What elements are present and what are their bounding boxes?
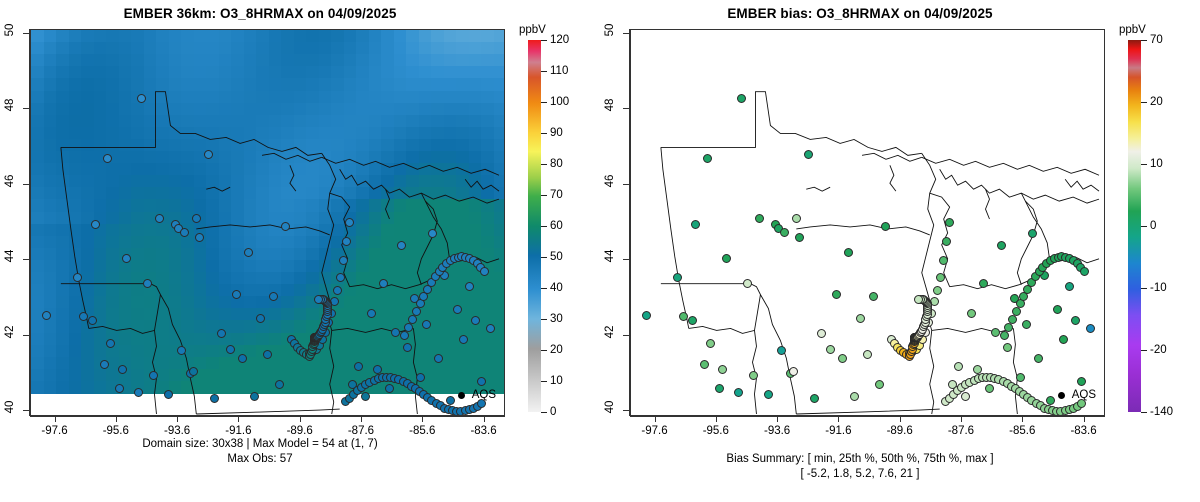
observation-point[interactable] — [471, 316, 480, 325]
y-tick-label: 46 — [4, 171, 16, 191]
observation-point[interactable] — [73, 273, 82, 282]
observation-point[interactable] — [465, 282, 474, 291]
left-footer-line2: Max Obs: 57 — [0, 452, 520, 467]
colorbar-tick-label: 20 — [550, 344, 563, 356]
colorbar-tick — [1141, 102, 1147, 103]
observation-point[interactable] — [339, 256, 348, 265]
observation-point[interactable] — [149, 371, 158, 380]
bias-point[interactable] — [826, 345, 835, 354]
colorbar-tick — [541, 226, 547, 227]
observation-point[interactable] — [269, 292, 278, 301]
colorbar-tick-label: 10 — [550, 375, 563, 387]
y-tick-label: 50 — [604, 20, 616, 40]
observation-point[interactable] — [189, 367, 198, 376]
y-tick — [23, 33, 29, 34]
colorbar-tick-label: 70 — [550, 189, 563, 201]
bias-point[interactable] — [914, 295, 923, 304]
observation-point[interactable] — [453, 305, 462, 314]
bias-point[interactable] — [942, 237, 951, 246]
colorbar-tick — [541, 133, 547, 134]
left-x-axis — [30, 416, 505, 417]
colorbar-tick-label: 0 — [1150, 220, 1156, 232]
bias-point[interactable] — [1077, 377, 1086, 386]
bias-point[interactable] — [936, 273, 945, 282]
observation-point[interactable] — [79, 312, 88, 321]
observation-point[interactable] — [244, 248, 253, 257]
colorbar-tick — [1141, 40, 1147, 41]
colorbar-tick-label: 40 — [550, 282, 563, 294]
observation-point[interactable] — [91, 220, 100, 229]
colorbar-tick-label: 10 — [1150, 158, 1163, 170]
x-tick-label: -91.6 — [225, 425, 251, 437]
colorbar-tick-label: 80 — [550, 158, 563, 170]
bias-point[interactable] — [961, 392, 970, 401]
observation-point[interactable] — [232, 290, 241, 299]
y-tick-label: 40 — [4, 397, 16, 417]
x-tick — [238, 416, 239, 422]
y-tick — [23, 335, 29, 336]
observation-point[interactable] — [333, 286, 342, 295]
right-colorbar-unit: ppbV — [1119, 24, 1146, 36]
bias-point[interactable] — [817, 329, 826, 338]
bias-point[interactable] — [734, 388, 743, 397]
bias-point[interactable] — [1003, 343, 1012, 352]
bias-point[interactable] — [1080, 267, 1089, 276]
bias-point[interactable] — [764, 390, 773, 399]
colorbar-tick — [1141, 164, 1147, 165]
observation-point[interactable] — [281, 222, 290, 231]
observation-point[interactable] — [412, 307, 421, 316]
bias-point[interactable] — [700, 360, 709, 369]
observation-point[interactable] — [434, 354, 443, 363]
bias-point[interactable] — [715, 384, 724, 393]
x-tick — [177, 416, 178, 422]
figure-root: EMBER 36km: O3_8HRMAX on 04/09/2025 — [0, 0, 1200, 502]
bias-point[interactable] — [691, 220, 700, 229]
y-tick — [623, 184, 629, 185]
observation-points-model[interactable] — [31, 30, 504, 415]
bias-point[interactable] — [967, 309, 976, 318]
aqs-legend-label: AQS — [1072, 389, 1096, 401]
x-tick — [655, 416, 656, 422]
x-tick-label: -93.6 — [164, 425, 190, 437]
x-tick-label: -89.6 — [287, 425, 313, 437]
aqs-legend-dot-icon — [1058, 392, 1065, 399]
colorbar-tick-label: -140 — [1150, 406, 1173, 418]
bias-point[interactable] — [755, 214, 764, 223]
x-tick — [777, 416, 778, 422]
x-tick-label: -87.6 — [948, 425, 974, 437]
bias-point[interactable] — [856, 314, 865, 323]
bias-point[interactable] — [985, 384, 994, 393]
colorbar-tick — [541, 350, 547, 351]
colorbar-tick — [541, 195, 547, 196]
observation-point[interactable] — [404, 323, 413, 332]
bias-point[interactable] — [933, 286, 942, 295]
observation-point[interactable] — [477, 377, 486, 386]
observation-point[interactable] — [115, 384, 124, 393]
y-tick — [23, 108, 29, 109]
colorbar-tick-label: 0 — [550, 406, 556, 418]
observation-point[interactable] — [238, 354, 247, 363]
observation-point[interactable] — [385, 384, 394, 393]
x-tick-label: -95.6 — [103, 425, 129, 437]
x-tick — [116, 416, 117, 422]
observation-point[interactable] — [428, 229, 437, 238]
x-tick — [55, 416, 56, 422]
y-tick-label: 48 — [4, 95, 16, 115]
x-tick — [1084, 416, 1085, 422]
right-y-axis — [629, 29, 630, 416]
colorbar-tick — [541, 319, 547, 320]
colorbar-tick — [541, 164, 547, 165]
colorbar-tick-label: -10 — [1150, 282, 1167, 294]
observation-point[interactable] — [88, 316, 97, 325]
bias-point[interactable] — [749, 371, 758, 380]
colorbar-tick — [541, 412, 547, 413]
colorbar-tick-label: 90 — [550, 127, 563, 139]
observation-point[interactable] — [100, 360, 109, 369]
left-colorbar-unit: ppbV — [519, 24, 546, 36]
bias-point[interactable] — [777, 346, 786, 355]
x-tick — [422, 416, 423, 422]
bias-point[interactable] — [1012, 307, 1021, 316]
observation-point[interactable] — [367, 309, 376, 318]
bias-point[interactable] — [850, 392, 859, 401]
colorbar-tick — [541, 257, 547, 258]
observation-point[interactable] — [204, 150, 213, 159]
observation-point[interactable] — [397, 241, 406, 250]
bias-point[interactable] — [1071, 316, 1080, 325]
left-map-plot[interactable]: AQS — [30, 29, 505, 416]
observation-point[interactable] — [314, 295, 323, 304]
bias-point[interactable] — [1022, 320, 1031, 329]
right-panel: EMBER bias: O3_8HRMAX on 04/09/2025 — [600, 0, 1200, 502]
bias-point[interactable] — [795, 233, 804, 242]
y-tick — [623, 410, 629, 411]
observation-point[interactable] — [446, 396, 455, 405]
colorbar-tick — [541, 40, 547, 41]
x-tick — [300, 416, 301, 422]
colorbar-tick — [541, 288, 547, 289]
bias-point[interactable] — [832, 290, 841, 299]
observation-point[interactable] — [342, 237, 351, 246]
left-footer-line1: Domain size: 30x38 | Max Model = 54 at (… — [0, 437, 520, 452]
colorbar-tick — [1141, 412, 1147, 413]
y-tick-label: 44 — [4, 246, 16, 266]
y-tick — [23, 410, 29, 411]
x-tick-label: -85.6 — [1009, 425, 1035, 437]
colorbar-tick — [541, 381, 547, 382]
colorbar-tick — [541, 71, 547, 72]
x-tick — [716, 416, 717, 422]
x-tick-label: -87.6 — [348, 425, 374, 437]
observation-point[interactable] — [408, 315, 417, 324]
observation-point[interactable] — [263, 350, 272, 359]
bias-point[interactable] — [1008, 315, 1017, 324]
colorbar-tick-label: 50 — [550, 251, 563, 263]
observation-point[interactable] — [336, 273, 345, 282]
colorbar-tick-label: 30 — [550, 313, 563, 325]
colorbar-tick-label: 120 — [550, 34, 569, 46]
observation-point[interactable] — [354, 362, 363, 371]
aqs-legend-dot-icon — [458, 392, 465, 399]
bias-point[interactable] — [997, 241, 1006, 250]
observation-point[interactable] — [345, 218, 354, 227]
observation-point[interactable] — [400, 331, 409, 340]
observation-point[interactable] — [137, 94, 146, 103]
x-tick-label: -83.6 — [470, 425, 496, 437]
bias-point[interactable] — [810, 394, 819, 403]
y-tick — [23, 184, 29, 185]
bias-point[interactable] — [1028, 229, 1037, 238]
x-tick — [961, 416, 962, 422]
observation-point[interactable] — [226, 345, 235, 354]
x-tick-label: -83.6 — [1070, 425, 1096, 437]
x-tick-label: -97.6 — [641, 425, 667, 437]
observation-point[interactable] — [217, 329, 226, 338]
colorbar-tick-label: 20 — [1150, 96, 1163, 108]
observation-point[interactable] — [164, 390, 173, 399]
x-tick-label: -95.6 — [703, 425, 729, 437]
left-colorbar — [528, 40, 541, 412]
aqs-legend-bias: AQS — [1058, 389, 1096, 401]
left-y-axis — [29, 29, 30, 416]
bias-point[interactable] — [979, 279, 988, 288]
observation-point[interactable] — [486, 324, 495, 333]
observation-point[interactable] — [480, 267, 489, 276]
bias-point[interactable] — [1053, 305, 1062, 314]
observation-point[interactable] — [416, 373, 425, 382]
observation-point[interactable] — [195, 233, 204, 242]
observation-point[interactable] — [256, 314, 265, 323]
aqs-legend: AQS — [458, 389, 496, 401]
bias-point[interactable] — [881, 222, 890, 231]
bias-point[interactable] — [844, 248, 853, 257]
colorbar-tick-label: -20 — [1150, 344, 1167, 356]
y-tick — [623, 108, 629, 109]
y-tick-label: 42 — [604, 322, 616, 342]
right-colorbar — [1128, 40, 1141, 412]
bias-point[interactable] — [863, 350, 872, 359]
bias-point[interactable] — [1059, 335, 1068, 344]
bias-point[interactable] — [954, 362, 963, 371]
bias-point[interactable] — [679, 312, 688, 321]
colorbar-tick — [1141, 226, 1147, 227]
colorbar-tick — [541, 102, 547, 103]
y-tick-label: 40 — [604, 397, 616, 417]
bias-point[interactable] — [991, 328, 1000, 337]
observation-point[interactable] — [361, 392, 370, 401]
x-tick-label: -93.6 — [764, 425, 790, 437]
observation-point[interactable] — [210, 394, 219, 403]
observation-point[interactable] — [459, 335, 468, 344]
bias-point[interactable] — [1004, 323, 1013, 332]
observation-point[interactable] — [103, 154, 112, 163]
bias-point[interactable] — [688, 316, 697, 325]
observation-point[interactable] — [177, 346, 186, 355]
bias-point[interactable] — [718, 365, 727, 374]
bias-point[interactable] — [1065, 282, 1074, 291]
observation-point[interactable] — [192, 214, 201, 223]
bias-point[interactable] — [838, 354, 847, 363]
right-x-axis — [630, 416, 1105, 417]
observation-point[interactable] — [134, 388, 143, 397]
bias-point[interactable] — [1000, 331, 1009, 340]
observation-point[interactable] — [379, 279, 388, 288]
y-tick-label: 42 — [4, 322, 16, 342]
bias-point[interactable] — [1016, 373, 1025, 382]
colorbar-tick-label: 70 — [1150, 34, 1163, 46]
observation-point[interactable] — [422, 320, 431, 329]
observation-point[interactable] — [275, 380, 284, 389]
left-panel-title: EMBER 36km: O3_8HRMAX on 04/09/2025 — [0, 6, 520, 21]
bias-point[interactable] — [1046, 396, 1055, 405]
bias-point[interactable] — [875, 380, 884, 389]
x-tick-label: -91.6 — [825, 425, 851, 437]
observation-point[interactable] — [42, 311, 51, 320]
right-footer-line2: [ -5.2, 1.8, 5.2, 7.6, 21 ] — [600, 467, 1120, 482]
bias-point[interactable] — [780, 228, 789, 237]
observation-point[interactable] — [250, 392, 259, 401]
right-footer-line1: Bias Summary: [ min, 25th %, 50th %, 75t… — [600, 452, 1120, 467]
observation-point[interactable] — [180, 228, 189, 237]
bias-point[interactable] — [722, 254, 731, 263]
observation-point[interactable] — [155, 214, 164, 223]
y-tick-label: 46 — [604, 171, 616, 191]
y-tick — [23, 259, 29, 260]
right-map-plot[interactable]: AQS — [630, 29, 1105, 416]
bias-point[interactable] — [939, 256, 948, 265]
bias-point[interactable] — [642, 311, 651, 320]
observation-point[interactable] — [143, 279, 152, 288]
bias-point[interactable] — [743, 279, 752, 288]
colorbar-tick — [1141, 350, 1147, 351]
x-tick-label: -85.6 — [409, 425, 435, 437]
observation-point[interactable] — [106, 339, 115, 348]
y-tick — [623, 259, 629, 260]
y-tick-label: 44 — [604, 246, 616, 266]
colorbar-tick-label: 100 — [550, 96, 569, 108]
left-panel: EMBER 36km: O3_8HRMAX on 04/09/2025 — [0, 0, 600, 502]
observation-point[interactable] — [118, 365, 127, 374]
colorbar-tick-label: 60 — [550, 220, 563, 232]
x-tick — [900, 416, 901, 422]
y-tick — [623, 335, 629, 336]
y-tick-label: 48 — [604, 95, 616, 115]
bias-point[interactable] — [706, 339, 715, 348]
x-tick — [361, 416, 362, 422]
bias-point[interactable] — [869, 292, 878, 301]
bias-point[interactable] — [673, 273, 682, 282]
x-tick — [838, 416, 839, 422]
observation-point[interactable] — [122, 254, 131, 263]
x-tick-label: -89.6 — [887, 425, 913, 437]
bias-point[interactable] — [804, 150, 813, 159]
colorbar-tick — [1141, 288, 1147, 289]
bias-point[interactable] — [1086, 324, 1095, 333]
observation-point[interactable] — [403, 343, 412, 352]
colorbar-tick-label: 110 — [550, 65, 568, 77]
y-tick-label: 50 — [4, 20, 16, 40]
x-tick — [484, 416, 485, 422]
x-tick — [1022, 416, 1023, 422]
bias-point[interactable] — [737, 94, 746, 103]
bias-point[interactable] — [789, 367, 798, 376]
observation-points-bias[interactable] — [631, 30, 1104, 415]
observation-point[interactable] — [391, 328, 400, 337]
bias-point[interactable] — [945, 218, 954, 227]
y-tick — [623, 33, 629, 34]
x-tick-label: -97.6 — [41, 425, 67, 437]
bias-point[interactable] — [792, 214, 801, 223]
aqs-legend-label: AQS — [472, 389, 496, 401]
bias-point[interactable] — [703, 154, 712, 163]
bias-point[interactable] — [1034, 354, 1043, 363]
right-panel-title: EMBER bias: O3_8HRMAX on 04/09/2025 — [600, 6, 1120, 21]
